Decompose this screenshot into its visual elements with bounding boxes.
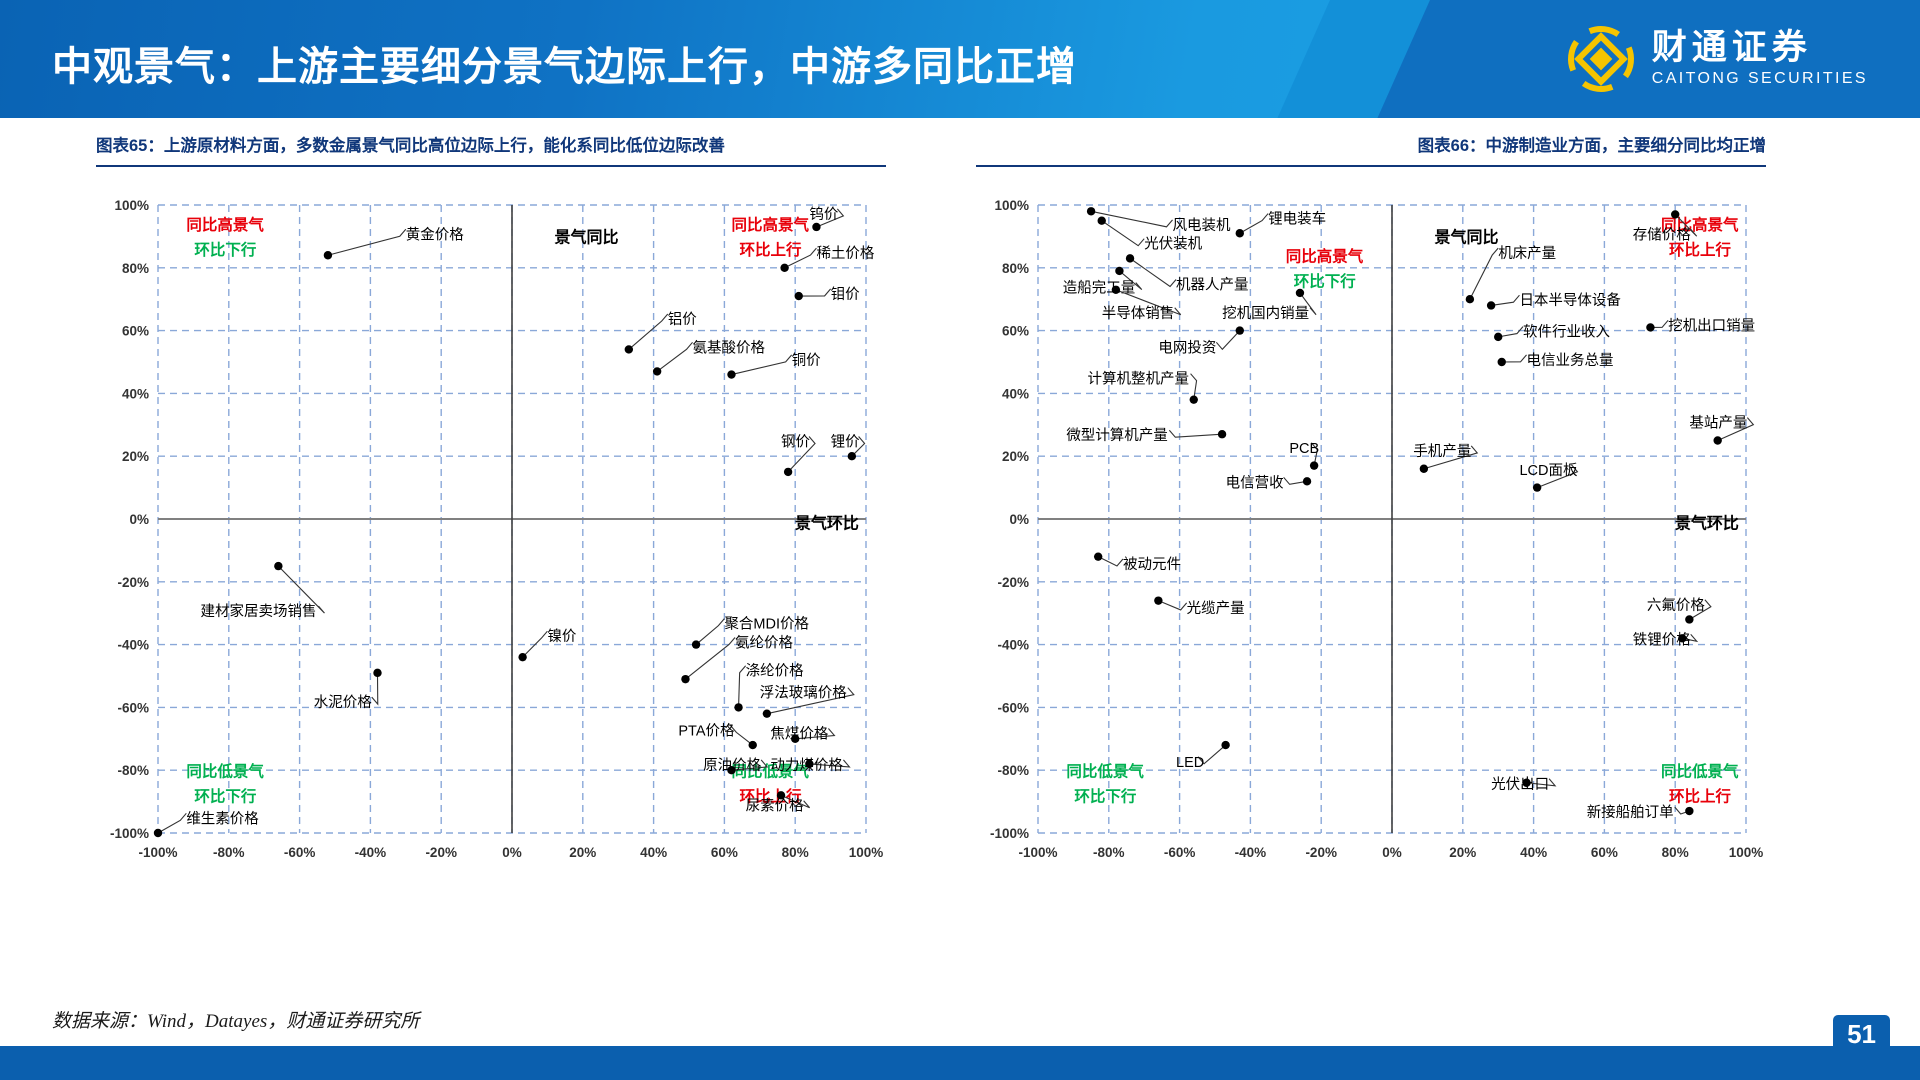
logo-text-en: CAITONG SECURITIES bbox=[1652, 70, 1868, 88]
y-axis-tick-label: 40% bbox=[122, 386, 149, 401]
y-axis-tick-label: -40% bbox=[997, 638, 1029, 653]
data-point-label: 电信营收 bbox=[1226, 474, 1284, 491]
leader-line bbox=[1169, 430, 1222, 437]
scatter-marker[interactable] bbox=[1303, 477, 1311, 485]
scatter-marker[interactable] bbox=[1671, 210, 1679, 218]
figure-title-66: 图表66：中游制造业方面，主要细分同比均正增 bbox=[976, 132, 1766, 167]
scatter-marker[interactable] bbox=[749, 741, 757, 749]
data-point-label: 日本半导体设备 bbox=[1519, 292, 1621, 309]
scatter-marker[interactable] bbox=[1218, 430, 1226, 438]
quadrant-label-low-down: 同比低景气环比下行 bbox=[186, 761, 264, 805]
data-point[interactable]: 钢价 bbox=[781, 434, 815, 477]
data-point[interactable]: 动力煤价格 bbox=[770, 757, 849, 774]
scatter-marker[interactable] bbox=[1236, 326, 1244, 334]
y-axis-tick-label: -100% bbox=[990, 826, 1029, 841]
leader-line bbox=[1130, 258, 1176, 286]
y-axis-tick-label: -80% bbox=[117, 763, 149, 778]
axis-label-yoy: 景气同比 bbox=[1434, 228, 1498, 247]
data-point-label: 氨基酸价格 bbox=[693, 339, 766, 356]
data-point-label: 风电装机 bbox=[1173, 217, 1231, 234]
scatter-marker[interactable] bbox=[1646, 323, 1654, 331]
scatter-marker[interactable] bbox=[1094, 552, 1102, 560]
scatter-marker[interactable] bbox=[1112, 286, 1120, 294]
y-axis-tick-label: 60% bbox=[122, 324, 149, 339]
data-point-label: 水泥价格 bbox=[314, 694, 372, 711]
quadrant-label-high-up: 同比高景气环比上行 bbox=[731, 215, 809, 259]
y-axis-tick-label: 100% bbox=[114, 198, 149, 213]
data-point-label: 动力煤价格 bbox=[770, 757, 843, 774]
data-point[interactable]: 建材家居卖场销售 bbox=[200, 562, 324, 620]
leader-line bbox=[799, 289, 831, 296]
data-point-label: 微型计算机产量 bbox=[1066, 427, 1168, 444]
scatter-marker[interactable] bbox=[1420, 465, 1428, 473]
y-axis-tick-label: -100% bbox=[110, 826, 149, 841]
data-point-label: 六氟价格 bbox=[1647, 597, 1705, 614]
page-title: 中观景气：上游主要细分景气边际上行，中游多同比正增 bbox=[52, 34, 1077, 92]
x-axis-tick-label: 60% bbox=[711, 845, 738, 860]
x-axis-tick-label: 100% bbox=[849, 845, 884, 860]
data-point-label: 存储价格 bbox=[1633, 226, 1691, 243]
scatter-plot-65[interactable]: 100%80%60%40%20%0%-20%-40%-60%-80%-100%-… bbox=[96, 193, 886, 883]
x-axis-tick-label: 60% bbox=[1591, 845, 1618, 860]
x-axis-tick-label: -20% bbox=[425, 845, 457, 860]
scatter-marker[interactable] bbox=[1713, 436, 1721, 444]
data-point[interactable]: PTA价格 bbox=[678, 722, 757, 749]
data-point-label: 氨纶价格 bbox=[735, 634, 793, 651]
scatter-marker[interactable] bbox=[274, 562, 282, 570]
scatter-marker[interactable] bbox=[681, 675, 689, 683]
data-point[interactable]: 电信业务总量 bbox=[1498, 352, 1614, 369]
leader-line bbox=[372, 673, 378, 704]
data-point[interactable]: 存储价格 bbox=[1633, 210, 1697, 243]
data-point[interactable]: 造船完工量 bbox=[1063, 267, 1142, 297]
scatter-marker[interactable] bbox=[653, 367, 661, 375]
scatter-marker[interactable] bbox=[373, 669, 381, 677]
logo-text-cn: 财通证券 bbox=[1652, 30, 1812, 67]
y-axis-tick-label: 20% bbox=[122, 449, 149, 464]
data-point[interactable]: 光伏出口 bbox=[1491, 776, 1555, 793]
leader-line bbox=[1102, 221, 1144, 246]
figure-panel-65: 图表65：上游原材料方面，多数金属景气同比高位边际上行，能化系同比低位边际改善 … bbox=[96, 132, 886, 883]
data-point-label: 钨价 bbox=[809, 206, 838, 223]
scatter-marker[interactable] bbox=[1466, 295, 1474, 303]
y-axis-tick-label: -20% bbox=[117, 575, 149, 590]
data-point-label: 半导体销售 bbox=[1102, 305, 1175, 322]
data-point[interactable]: 铝价 bbox=[625, 311, 698, 354]
data-point-label: LCD面板 bbox=[1519, 461, 1578, 479]
scatter-marker[interactable] bbox=[848, 452, 856, 460]
chart-66: 100%80%60%40%20%0%-20%-40%-60%-80%-100%-… bbox=[976, 193, 1766, 883]
scatter-marker[interactable] bbox=[1296, 289, 1304, 297]
x-axis-tick-label: 40% bbox=[1520, 845, 1547, 860]
data-point-label: 焦煤价格 bbox=[770, 726, 828, 743]
quadrant-label-line1: 同比低景气 bbox=[1066, 761, 1144, 780]
scatter-marker[interactable] bbox=[1533, 483, 1541, 491]
data-point[interactable]: 软件行业收入 bbox=[1494, 324, 1610, 341]
data-point[interactable]: PCB bbox=[1289, 441, 1319, 470]
page-number: 51 bbox=[1833, 1015, 1890, 1056]
data-point-label: 光缆产量 bbox=[1187, 600, 1245, 617]
scatter-marker[interactable] bbox=[763, 709, 771, 717]
quadrant-label-low-up: 同比低景气环比上行 bbox=[1661, 761, 1739, 805]
axis-label-yoy: 景气同比 bbox=[554, 228, 618, 247]
quadrant-label-high-down: 同比高景气环比下行 bbox=[1286, 247, 1364, 291]
data-point-label: 建材家居卖场销售 bbox=[200, 603, 316, 620]
data-point-label: 电网投资 bbox=[1158, 339, 1216, 356]
scatter-marker[interactable] bbox=[692, 640, 700, 648]
data-point-label: 聚合MDI价格 bbox=[724, 616, 809, 633]
scatter-marker[interactable] bbox=[1087, 207, 1095, 215]
data-point-label: 铜价 bbox=[792, 352, 821, 369]
data-point-label: 钢价 bbox=[781, 434, 810, 451]
data-point-label: 钼价 bbox=[831, 286, 860, 303]
quadrant-label-line1: 同比高景气 bbox=[731, 215, 809, 234]
y-axis-tick-label: 0% bbox=[1009, 512, 1029, 527]
scatter-marker[interactable] bbox=[795, 292, 803, 300]
data-point[interactable]: LCD面板 bbox=[1519, 461, 1578, 492]
data-point-label: 原油价格 bbox=[703, 757, 761, 774]
figure-panel-66: 图表66：中游制造业方面，主要细分同比均正增 100%80%60%40%20%0… bbox=[976, 132, 1766, 883]
scatter-marker[interactable] bbox=[1115, 267, 1123, 275]
figure-title-65: 图表65：上游原材料方面，多数金属景气同比高位边际上行，能化系同比低位边际改善 bbox=[96, 132, 886, 167]
quadrant-label-line2: 环比上行 bbox=[1669, 786, 1732, 805]
scatter-marker[interactable] bbox=[727, 370, 735, 378]
data-point[interactable]: 钨价 bbox=[809, 206, 843, 231]
scatter-marker[interactable] bbox=[324, 251, 332, 259]
leader-line bbox=[158, 813, 186, 833]
y-axis-tick-label: 20% bbox=[1002, 449, 1029, 464]
leader-line bbox=[1216, 331, 1239, 350]
x-axis-tick-label: -20% bbox=[1305, 845, 1337, 860]
data-point-label: 软件行业收入 bbox=[1523, 324, 1610, 341]
scatter-marker[interactable] bbox=[1126, 254, 1134, 262]
y-axis-tick-label: -20% bbox=[997, 575, 1029, 590]
data-point[interactable]: 机器人产量 bbox=[1126, 254, 1249, 293]
x-axis-tick-label: 40% bbox=[640, 845, 667, 860]
scatter-marker[interactable] bbox=[1685, 807, 1693, 815]
scatter-marker[interactable] bbox=[518, 653, 526, 661]
x-axis-tick-label: 80% bbox=[1662, 845, 1689, 860]
x-axis-tick-label: -60% bbox=[284, 845, 316, 860]
data-point-label: 稀土价格 bbox=[816, 245, 874, 262]
x-axis-tick-label: 20% bbox=[1449, 845, 1476, 860]
x-axis-tick-label: -80% bbox=[1093, 845, 1125, 860]
data-point[interactable]: 手机产量 bbox=[1413, 443, 1477, 473]
quadrant-label-line2: 环比上行 bbox=[739, 240, 802, 259]
data-point-label: 尿素价格 bbox=[746, 798, 804, 815]
data-point[interactable]: 光缆产量 bbox=[1154, 596, 1245, 616]
data-point-label: PCB bbox=[1289, 441, 1319, 457]
axis-label-mom: 景气环比 bbox=[1675, 513, 1739, 532]
x-axis-tick-label: -80% bbox=[213, 845, 245, 860]
leader-line bbox=[731, 355, 791, 375]
data-point-label: 锂电装车 bbox=[1268, 211, 1326, 228]
data-point-label: 涤纶价格 bbox=[746, 663, 804, 680]
scatter-marker[interactable] bbox=[1154, 596, 1162, 604]
data-point[interactable]: 焦煤价格 bbox=[770, 726, 834, 743]
y-axis-tick-label: 80% bbox=[1002, 261, 1029, 276]
data-point[interactable]: LED bbox=[1176, 741, 1230, 771]
x-axis-tick-label: -100% bbox=[138, 845, 177, 860]
scatter-marker[interactable] bbox=[1098, 217, 1106, 225]
data-point[interactable]: 微型计算机产量 bbox=[1066, 427, 1226, 444]
data-point-label: 镍价 bbox=[547, 628, 576, 645]
y-axis-tick-label: 40% bbox=[1002, 386, 1029, 401]
data-point[interactable]: 浮法玻璃价格 bbox=[760, 685, 854, 718]
footer-bar bbox=[0, 1046, 1920, 1080]
data-point-label: 锂价 bbox=[831, 434, 860, 451]
data-point[interactable]: 半导体销售 bbox=[1102, 286, 1181, 322]
data-point-label: 黄金价格 bbox=[406, 226, 464, 243]
leader-line bbox=[1491, 295, 1519, 305]
data-point-label: 基站产量 bbox=[1689, 415, 1747, 432]
quadrant-label-low-down: 同比低景气环比下行 bbox=[1066, 761, 1144, 805]
data-point[interactable]: 基站产量 bbox=[1689, 415, 1753, 445]
data-point-label: 铁锂价格 bbox=[1633, 631, 1691, 648]
source-note: 数据来源：Wind，Datayes，财通证券研究所 bbox=[52, 1006, 419, 1033]
data-point[interactable]: 被动元件 bbox=[1094, 552, 1181, 572]
data-point[interactable]: 黄金价格 bbox=[324, 226, 465, 259]
y-axis-tick-label: -40% bbox=[117, 638, 149, 653]
x-axis-tick-label: -60% bbox=[1164, 845, 1196, 860]
data-point-label: 机器人产量 bbox=[1176, 277, 1249, 294]
leader-line bbox=[328, 229, 406, 255]
x-axis-tick-label: 100% bbox=[1729, 845, 1764, 860]
quadrant-label-high-down: 同比高景气环比下行 bbox=[186, 215, 264, 259]
quadrant-label-line1: 同比高景气 bbox=[1286, 247, 1364, 266]
quadrant-label-line2: 环比下行 bbox=[194, 786, 257, 805]
y-axis-tick-label: -80% bbox=[997, 763, 1029, 778]
data-point-label: 维生素价格 bbox=[186, 810, 259, 827]
x-axis-tick-label: -40% bbox=[1235, 845, 1267, 860]
leader-line bbox=[1470, 248, 1498, 299]
axis-label-mom: 景气环比 bbox=[795, 513, 859, 532]
leader-line bbox=[1158, 601, 1186, 610]
data-point[interactable]: 新接船舶订单 bbox=[1587, 804, 1694, 821]
data-point[interactable]: 镍价 bbox=[518, 628, 576, 661]
leader-line bbox=[1240, 214, 1268, 234]
scatter-marker[interactable] bbox=[1221, 741, 1229, 749]
quadrant-label-line2: 环比下行 bbox=[194, 240, 257, 259]
scatter-marker[interactable] bbox=[1498, 358, 1506, 366]
data-point-label: LED bbox=[1176, 755, 1204, 771]
x-axis-tick-label: 20% bbox=[569, 845, 596, 860]
data-point[interactable]: 铁锂价格 bbox=[1633, 631, 1697, 648]
scatter-marker[interactable] bbox=[780, 264, 788, 272]
scatter-marker[interactable] bbox=[625, 345, 633, 353]
scatter-marker[interactable] bbox=[1494, 333, 1502, 341]
quadrant-label-line1: 同比低景气 bbox=[1661, 761, 1739, 780]
quadrant-label-line1: 同比高景气 bbox=[186, 215, 264, 234]
scatter-marker[interactable] bbox=[812, 223, 820, 231]
data-point-label: 机床产量 bbox=[1498, 245, 1556, 262]
x-axis-tick-label: -100% bbox=[1018, 845, 1057, 860]
y-axis-tick-label: 80% bbox=[122, 261, 149, 276]
data-point[interactable]: 原油价格 bbox=[703, 757, 767, 774]
data-point-label: 光伏装机 bbox=[1144, 236, 1202, 253]
quadrant-label-line1: 同比低景气 bbox=[186, 761, 264, 780]
brand-logo: 财通证券 CAITONG SECURITIES bbox=[1566, 24, 1868, 94]
x-axis-tick-label: -40% bbox=[355, 845, 387, 860]
scatter-marker[interactable] bbox=[734, 703, 742, 711]
scatter-marker[interactable] bbox=[1236, 229, 1244, 237]
y-axis-tick-label: -60% bbox=[117, 700, 149, 715]
x-axis-tick-label: 0% bbox=[502, 845, 522, 860]
data-point-label: 浮法玻璃价格 bbox=[760, 685, 847, 702]
quadrant-label-line2: 环比下行 bbox=[1294, 272, 1357, 291]
data-point-label: 新接船舶订单 bbox=[1587, 804, 1674, 821]
data-point-label: 计算机整机产量 bbox=[1088, 371, 1190, 388]
data-point-label: 手机产量 bbox=[1413, 443, 1471, 460]
data-point[interactable]: 钼价 bbox=[795, 286, 861, 303]
x-axis-tick-label: 0% bbox=[1382, 845, 1402, 860]
caitong-logo-icon bbox=[1566, 24, 1636, 94]
data-point-label: 挖机出口销量 bbox=[1668, 317, 1755, 334]
scatter-marker[interactable] bbox=[154, 829, 162, 837]
data-point-label: PTA价格 bbox=[678, 722, 735, 739]
leader-line bbox=[696, 619, 724, 645]
y-axis-tick-label: 100% bbox=[994, 198, 1029, 213]
page-header: 中观景气：上游主要细分景气边际上行，中游多同比正增 财通证券 CAITONG S… bbox=[0, 0, 1920, 118]
data-point[interactable]: 六氟价格 bbox=[1647, 597, 1711, 624]
data-point[interactable]: 计算机整机产量 bbox=[1088, 371, 1198, 404]
x-axis-tick-label: 80% bbox=[782, 845, 809, 860]
leader-line bbox=[629, 314, 668, 349]
data-point-label: 被动元件 bbox=[1123, 556, 1181, 573]
data-point[interactable]: 挖机国内销量 bbox=[1222, 289, 1316, 322]
scatter-marker[interactable] bbox=[1190, 395, 1198, 403]
data-point[interactable]: 日本半导体设备 bbox=[1487, 292, 1622, 309]
y-axis-tick-label: -60% bbox=[997, 700, 1029, 715]
quadrant-label-line2: 环比下行 bbox=[1074, 786, 1137, 805]
y-axis-tick-label: 0% bbox=[129, 512, 149, 527]
data-point[interactable]: 锂电装车 bbox=[1236, 211, 1327, 238]
y-axis-tick-label: 60% bbox=[1002, 324, 1029, 339]
scatter-marker[interactable] bbox=[1685, 615, 1693, 623]
data-point[interactable]: 电信营收 bbox=[1226, 474, 1312, 491]
data-point-label: 造船完工量 bbox=[1063, 280, 1136, 297]
leader-line bbox=[657, 342, 692, 371]
scatter-marker[interactable] bbox=[1487, 301, 1495, 309]
data-point-label: 光伏出口 bbox=[1491, 776, 1549, 793]
data-point-label: 铝价 bbox=[668, 311, 697, 328]
scatter-plot-66[interactable]: 100%80%60%40%20%0%-20%-40%-60%-80%-100%-… bbox=[976, 193, 1766, 883]
chart-65: 100%80%60%40%20%0%-20%-40%-60%-80%-100%-… bbox=[96, 193, 886, 883]
data-point[interactable]: 水泥价格 bbox=[314, 669, 382, 711]
data-point-label: 电信业务总量 bbox=[1527, 352, 1614, 369]
scatter-marker[interactable] bbox=[784, 468, 792, 476]
data-point-label: 挖机国内销量 bbox=[1222, 305, 1309, 322]
data-point[interactable]: 挖机出口销量 bbox=[1646, 317, 1755, 334]
leader-line bbox=[739, 666, 746, 708]
scatter-marker[interactable] bbox=[1310, 461, 1318, 469]
